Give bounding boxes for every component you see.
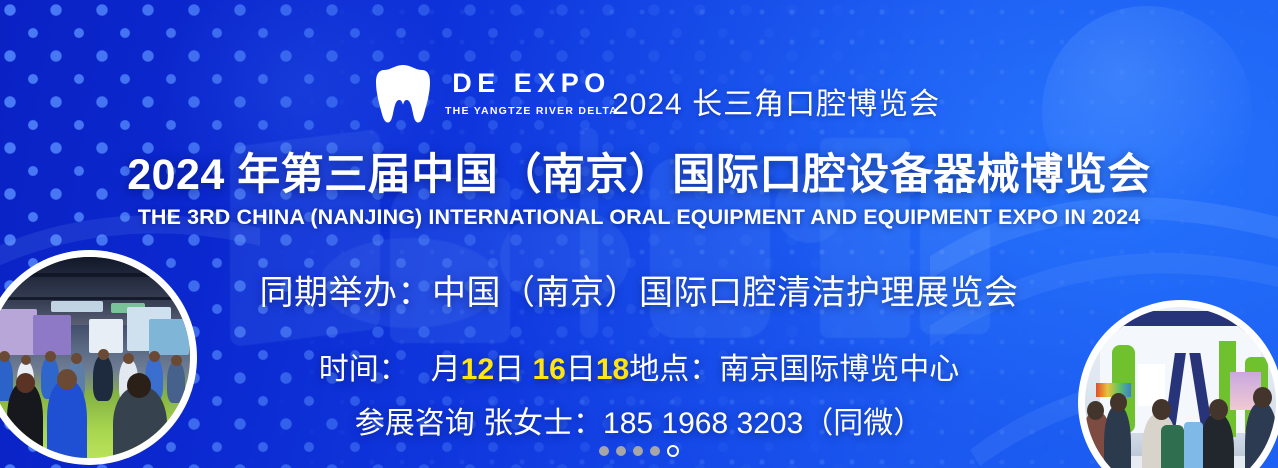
- day-char-2: 日: [566, 353, 596, 386]
- day-2: 16: [532, 353, 565, 386]
- expo-logo-subtitle: THE YANGTZE RIVER DELTA: [445, 106, 618, 117]
- carousel-dot-2[interactable]: [616, 446, 626, 456]
- month-char: 月: [431, 353, 461, 386]
- page-title-chinese: 2024 年第三届中国（南京）国际口腔设备器械博览会: [0, 140, 1278, 202]
- day-3: 18: [596, 353, 629, 386]
- day-char-1: 日: [494, 353, 524, 386]
- expo-logo-text: DE EXPO THE YANGTZE RIVER DELTA: [445, 70, 618, 117]
- banner-content: DE EXPO THE YANGTZE RIVER DELTA 2024 长三角…: [0, 0, 1278, 468]
- expo-logo-title: DE EXPO: [452, 70, 611, 97]
- venue-label: 地点：: [629, 353, 719, 386]
- carousel-dot-1[interactable]: [599, 446, 609, 456]
- page-title-english: THE 3RD CHINA (NANJING) INTERNATIONAL OR…: [0, 205, 1278, 230]
- carousel-pagination[interactable]: [0, 445, 1278, 457]
- carousel-dot-4[interactable]: [650, 446, 660, 456]
- venue-value: 南京国际博览中心: [719, 353, 959, 386]
- carousel-dot-5[interactable]: [667, 445, 679, 457]
- day-1: 12: [461, 353, 494, 386]
- carousel-dot-3[interactable]: [633, 446, 643, 456]
- contact-line: 参展咨询 张女士：185 1968 3203（同微）: [0, 398, 1278, 442]
- expo-promo-banner: DE EXPO THE YANGTZE RIVER DELTA 2024 长三角…: [0, 0, 1278, 468]
- time-label: 时间：: [319, 353, 409, 386]
- concurrent-event-line: 同期举办：中国（南京）国际口腔清洁护理展览会: [0, 265, 1278, 314]
- schedule-line: 时间：月12日 16日18地点：南京国际博览中心: [0, 344, 1278, 388]
- tooth-icon: [375, 62, 431, 124]
- expo-logo: DE EXPO THE YANGTZE RIVER DELTA: [375, 62, 618, 124]
- expo-chinese-tagline: 2024 长三角口腔博览会: [612, 79, 940, 123]
